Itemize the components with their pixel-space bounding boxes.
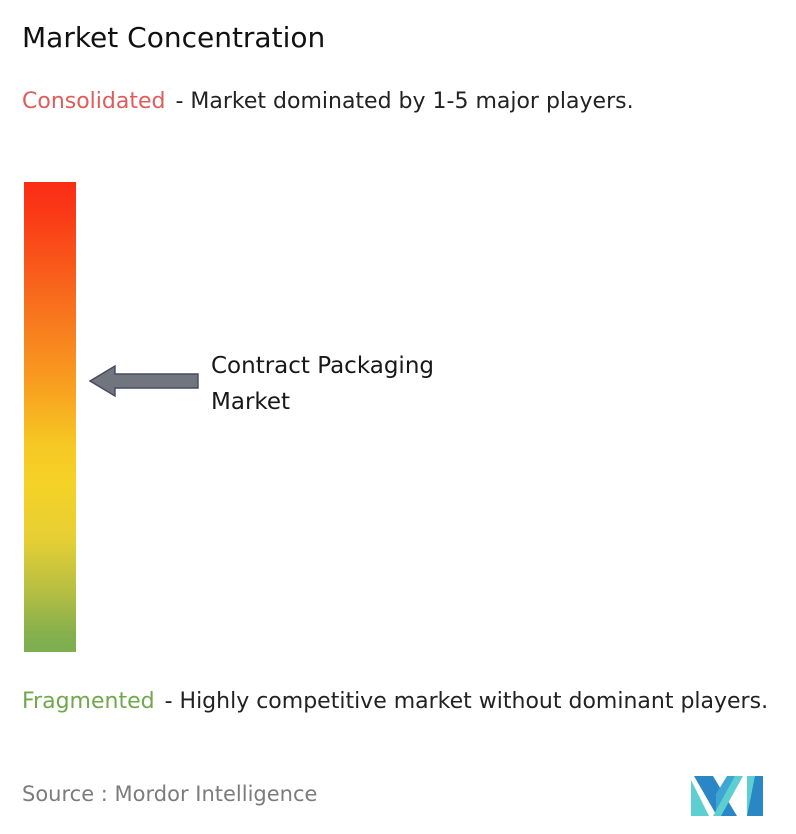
concentration-gradient-bar [24, 182, 76, 652]
legend-term-consolidated: Consolidated [22, 89, 165, 114]
caption-fragmented-description: - Highly competitive market without domi… [165, 689, 768, 714]
page-title: Market Concentration [22, 20, 325, 56]
arrow-left-icon [89, 363, 199, 399]
source-attribution: Source : Mordor Intelligence [22, 782, 317, 806]
caption-fragmented: Fragmented- Highly competitive market wi… [22, 686, 782, 717]
mordor-intelligence-logo-icon [691, 770, 763, 822]
marker-label-line-2: Market [211, 384, 531, 420]
legend-term-fragmented: Fragmented [22, 689, 155, 714]
marker-label: Contract Packaging Market [211, 348, 531, 420]
caption-consolidated: Consolidated- Market dominated by 1-5 ma… [22, 86, 770, 117]
marker-label-line-1: Contract Packaging [211, 348, 531, 384]
caption-consolidated-description: - Market dominated by 1-5 major players. [175, 89, 633, 114]
